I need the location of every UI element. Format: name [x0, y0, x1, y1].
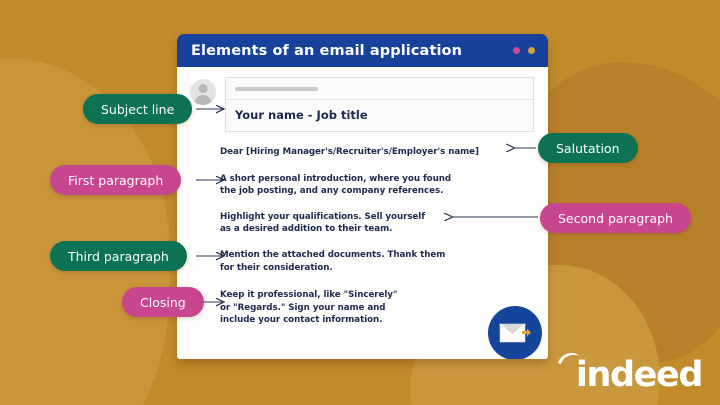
- gold-dot-icon[interactable]: [528, 47, 535, 54]
- window-title: Elements of an email application: [191, 43, 513, 59]
- paragraph-closing: Keep it professional, like "Sincerely"or…: [220, 289, 534, 327]
- email-window-card: Elements of an email application Your na…: [177, 34, 548, 359]
- paragraph-third: Mention the attached documents. Thank th…: [220, 249, 534, 274]
- email-header-row: Your name - Job title: [177, 67, 548, 132]
- indeed-logo-text: indeed: [576, 358, 702, 393]
- envelope-send-icon: [488, 306, 542, 359]
- window-titlebar: Elements of an email application: [177, 34, 548, 67]
- paragraph-salutation: Dear [Hiring Manager's/Recruiter's/Emplo…: [220, 146, 534, 159]
- email-body: Dear [Hiring Manager's/Recruiter's/Emplo…: [177, 132, 548, 327]
- callout-first-paragraph[interactable]: First paragraph: [50, 165, 181, 195]
- callout-third-paragraph[interactable]: Third paragraph: [50, 241, 187, 271]
- callout-salutation[interactable]: Salutation: [538, 133, 638, 163]
- paragraph-first: A short personal introduction, where you…: [220, 173, 534, 198]
- subject-placeholder-bar: [235, 87, 318, 91]
- indeed-logo: indeed: [554, 347, 702, 393]
- callout-closing[interactable]: Closing: [122, 287, 204, 317]
- callout-second-paragraph[interactable]: Second paragraph: [540, 203, 691, 233]
- pink-dot-icon[interactable]: [513, 47, 520, 54]
- paragraph-second: Highlight your qualifications. Sell your…: [220, 211, 534, 236]
- window-controls: [513, 47, 535, 54]
- person-avatar-icon: [190, 79, 216, 105]
- subject-value: Your name - Job title: [226, 100, 533, 131]
- subject-line-field[interactable]: Your name - Job title: [225, 77, 534, 132]
- callout-subject-line[interactable]: Subject line: [83, 94, 192, 124]
